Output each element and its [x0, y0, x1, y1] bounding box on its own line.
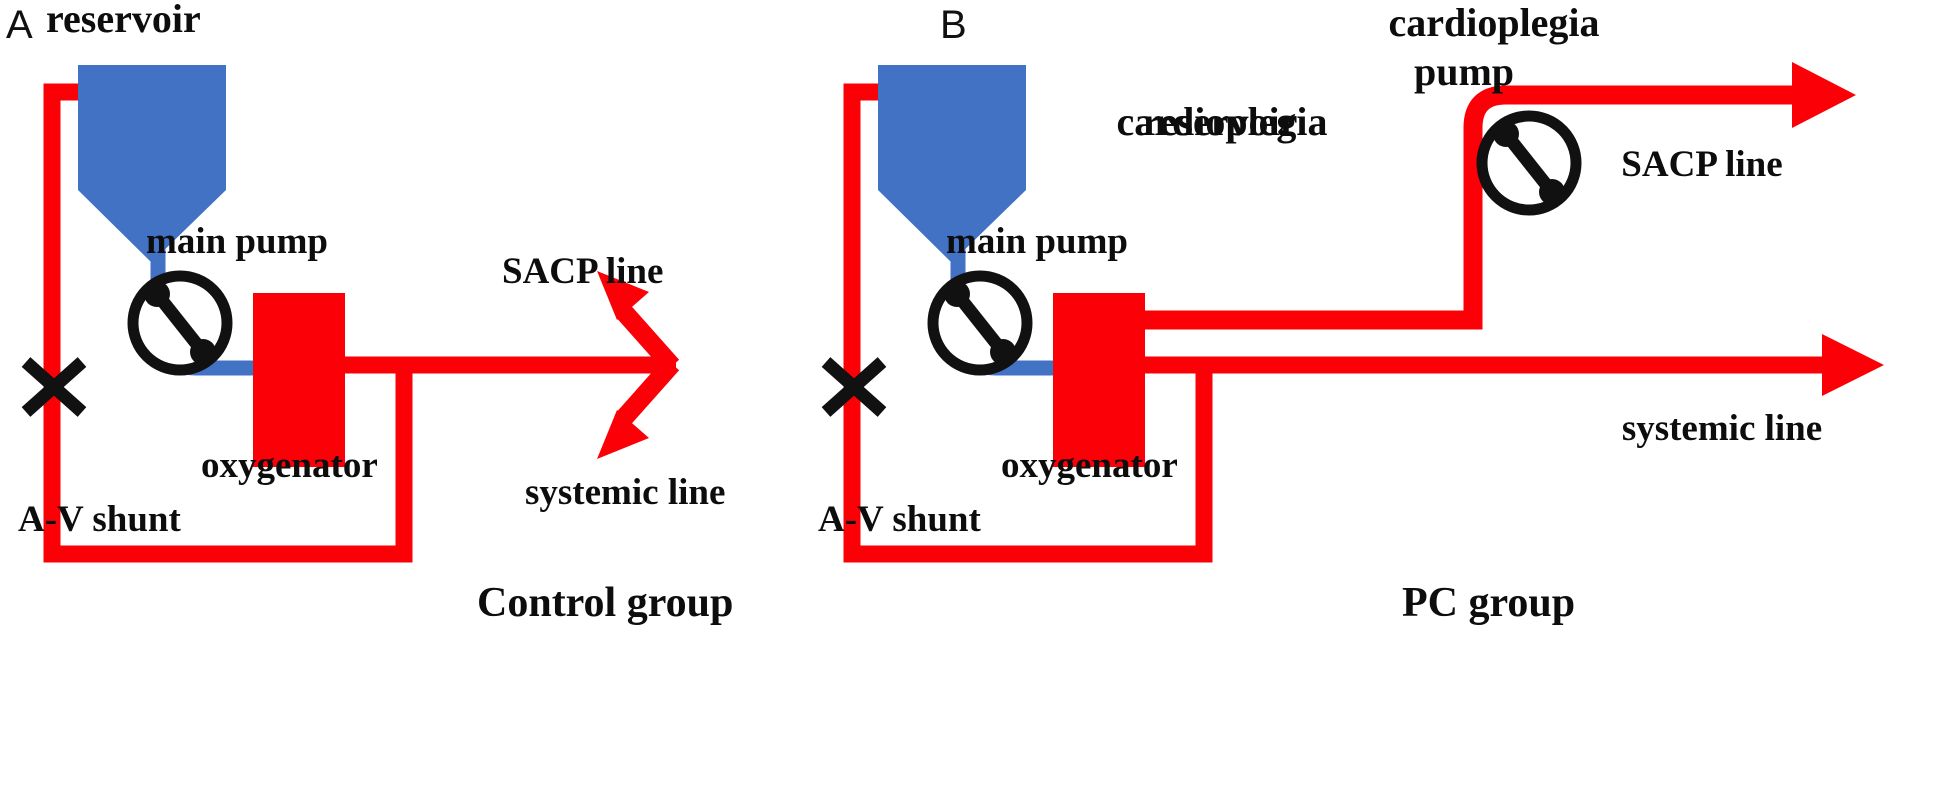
label-av-shunt-b: A-V shunt	[818, 499, 981, 540]
label-av-shunt-a: A-V shunt	[18, 499, 181, 540]
cpb-circuit-diagram: A	[0, 0, 1950, 796]
oxygenator-rect-b	[1053, 293, 1145, 467]
label-reservoir-a: reservoir	[46, 0, 201, 41]
label-systemic-line-a: systemic line	[525, 472, 725, 513]
label-reservoir-b: reservoir	[1143, 99, 1298, 144]
main-pump-icon-a	[133, 276, 227, 370]
oxygenator-rect-a	[253, 293, 345, 467]
label-oxygenator-b: oxygenator	[1001, 445, 1178, 486]
systemic-arrow-a	[597, 364, 672, 459]
panel-b: B	[818, 0, 1884, 626]
panel-a: A	[6, 0, 733, 626]
label-cardioplegia-b: cardioplegia	[1388, 0, 1599, 45]
label-sacp-line-b: SACP line	[1621, 144, 1782, 185]
label-main-pump-b: main pump	[946, 221, 1128, 262]
sacp-arrowhead-b	[1792, 62, 1856, 128]
label-sacp-line-a: SACP line	[502, 251, 663, 292]
cardioplegia-pump-icon-b	[1482, 116, 1576, 210]
panel-a-caption: Control group	[477, 580, 733, 626]
systemic-arrowhead-b	[1822, 334, 1884, 396]
panel-b-caption: PC group	[1402, 580, 1575, 626]
figure-canvas: A	[0, 0, 1950, 796]
label-systemic-line-b: systemic line	[1622, 408, 1822, 449]
main-pump-icon-b	[933, 276, 1027, 370]
label-cardioplegia-pump-b: pump	[1414, 49, 1514, 94]
label-oxygenator-a: oxygenator	[201, 445, 378, 486]
panel-b-letter: B	[940, 3, 967, 47]
panel-a-letter: A	[6, 3, 33, 47]
label-main-pump-a: main pump	[146, 221, 328, 262]
